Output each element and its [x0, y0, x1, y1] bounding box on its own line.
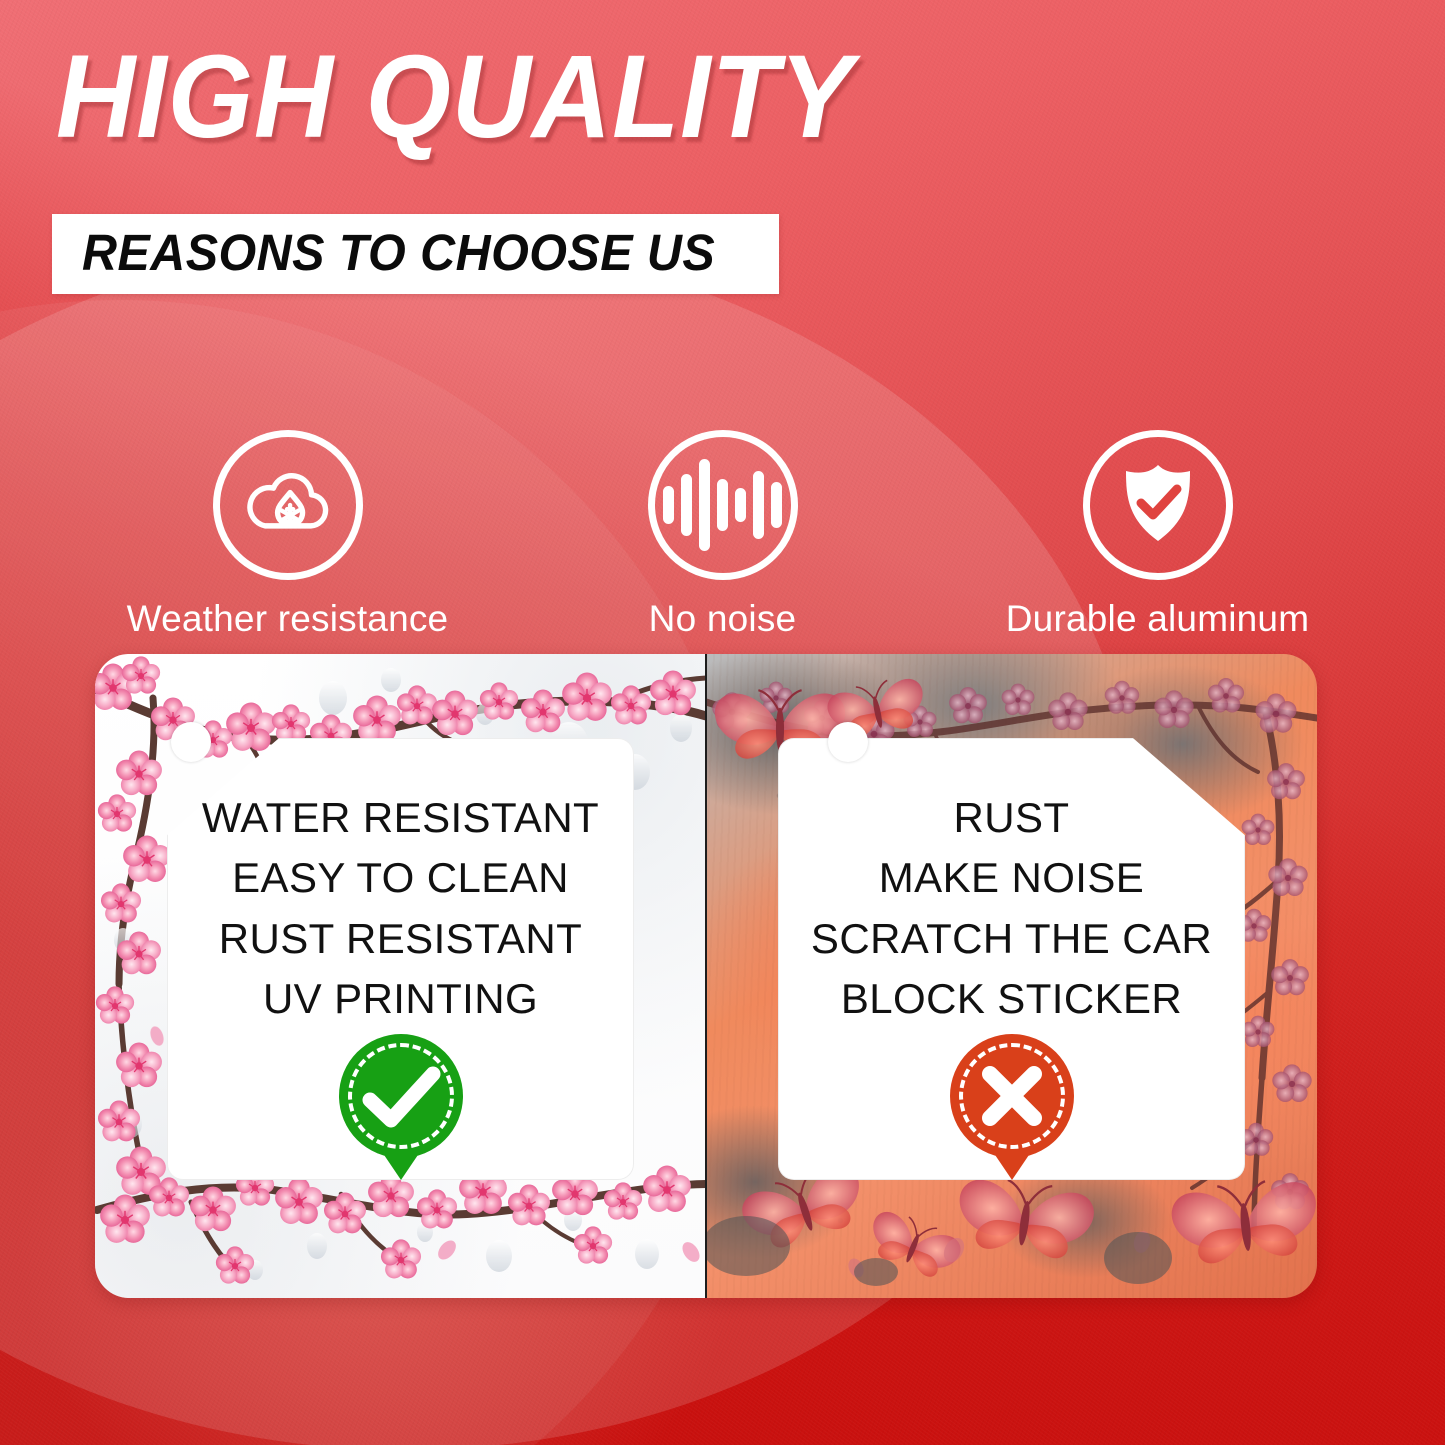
bad-line: BLOCK STICKER: [706, 969, 1317, 1029]
feature-icon-ring: [648, 430, 798, 580]
feature-no-noise: No noise: [533, 430, 913, 640]
sound-wave-icon: [663, 457, 782, 553]
feature-icon-ring: [213, 430, 363, 580]
good-verdict-badge: [339, 1034, 463, 1158]
shield-check-icon: [1108, 453, 1208, 558]
feature-label: Weather resistance: [127, 598, 449, 640]
page-title: HIGH QUALITY: [56, 38, 854, 156]
good-frame-panel: WATER RESISTANT EASY TO CLEAN RUST RESIS…: [95, 654, 706, 1298]
bad-feature-text: RUST MAKE NOISE SCRATCH THE CAR BLOCK ST…: [706, 788, 1317, 1030]
good-line: UV PRINTING: [95, 969, 706, 1029]
feature-icon-ring: [1083, 430, 1233, 580]
feature-label: No noise: [649, 598, 797, 640]
comparison-plate-frames: WATER RESISTANT EASY TO CLEAN RUST RESIS…: [95, 654, 1317, 1298]
bad-line: MAKE NOISE: [706, 848, 1317, 908]
feature-label: Durable aluminum: [1006, 598, 1309, 640]
feature-durable-aluminum: Durable aluminum: [968, 430, 1348, 640]
good-line: EASY TO CLEAN: [95, 848, 706, 908]
mounting-hole-icon: [171, 722, 211, 762]
check-icon: [339, 1034, 463, 1158]
good-line: WATER RESISTANT: [95, 788, 706, 848]
comparison-divider: [705, 654, 707, 1298]
feature-weather-resistance: Weather resistance: [98, 430, 478, 640]
feature-list: Weather resistance No noise: [0, 430, 1445, 640]
bad-line: RUST: [706, 788, 1317, 848]
cloud-water-snowflake-icon: [236, 451, 340, 560]
subtitle-text: REASONS TO CHOOSE US: [82, 227, 715, 278]
subtitle-banner: REASONS TO CHOOSE US: [52, 214, 779, 294]
mounting-hole-icon: [828, 722, 868, 762]
bad-line: SCRATCH THE CAR: [706, 909, 1317, 969]
bad-frame-panel: RUST MAKE NOISE SCRATCH THE CAR BLOCK ST…: [706, 654, 1317, 1298]
good-feature-text: WATER RESISTANT EASY TO CLEAN RUST RESIS…: [95, 788, 706, 1030]
bad-verdict-badge: [950, 1034, 1074, 1158]
good-line: RUST RESISTANT: [95, 909, 706, 969]
cross-icon: [950, 1034, 1074, 1158]
